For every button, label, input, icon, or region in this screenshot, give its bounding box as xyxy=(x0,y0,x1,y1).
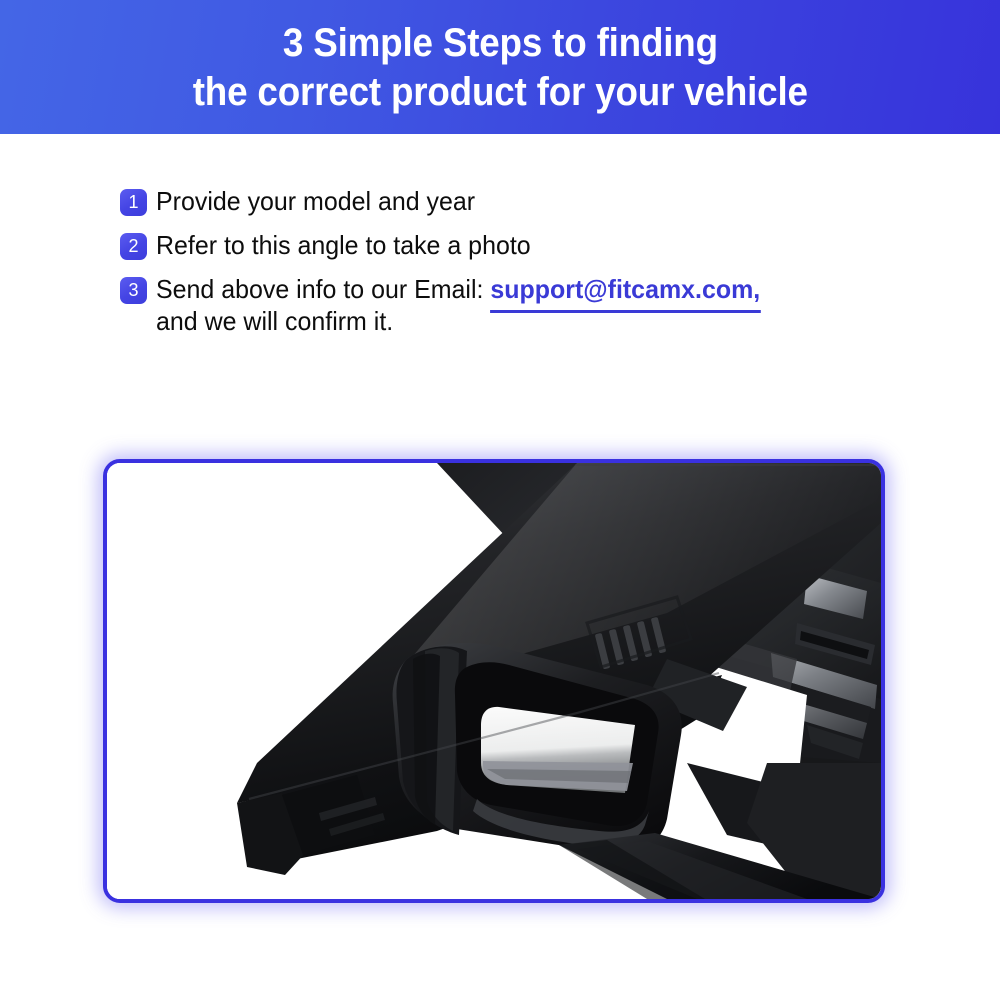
step-item-1: 1 Provide your model and year xyxy=(120,186,940,217)
mirror-illustration xyxy=(107,463,881,899)
step-label-1: Provide your model and year xyxy=(156,186,475,217)
page-title-line-1: 3 Simple Steps to finding xyxy=(282,23,717,63)
step-number-badge-2: 2 xyxy=(120,233,147,260)
step-label-2: Refer to this angle to take a photo xyxy=(156,230,531,261)
support-email-link[interactable]: support@fitcamx.com, xyxy=(490,274,760,305)
step-3-text-before-email: Send above info to our Email: xyxy=(156,274,490,304)
step-item-3: 3 Send above info to our Email: support@… xyxy=(120,274,940,336)
step-label-3: Send above info to our Email: support@fi… xyxy=(156,274,760,336)
step-number-badge-1: 1 xyxy=(120,189,147,216)
step-item-2: 2 Refer to this angle to take a photo xyxy=(120,230,940,261)
vehicle-mirror-photo xyxy=(107,463,881,899)
step-number-badge-3: 3 xyxy=(120,277,147,304)
steps-list: 1 Provide your model and year 2 Refer to… xyxy=(120,186,940,350)
product-photo-frame xyxy=(103,459,885,903)
page-title-line-2: the correct product for your vehicle xyxy=(192,72,807,112)
header-banner: 3 Simple Steps to finding the correct pr… xyxy=(0,0,1000,134)
